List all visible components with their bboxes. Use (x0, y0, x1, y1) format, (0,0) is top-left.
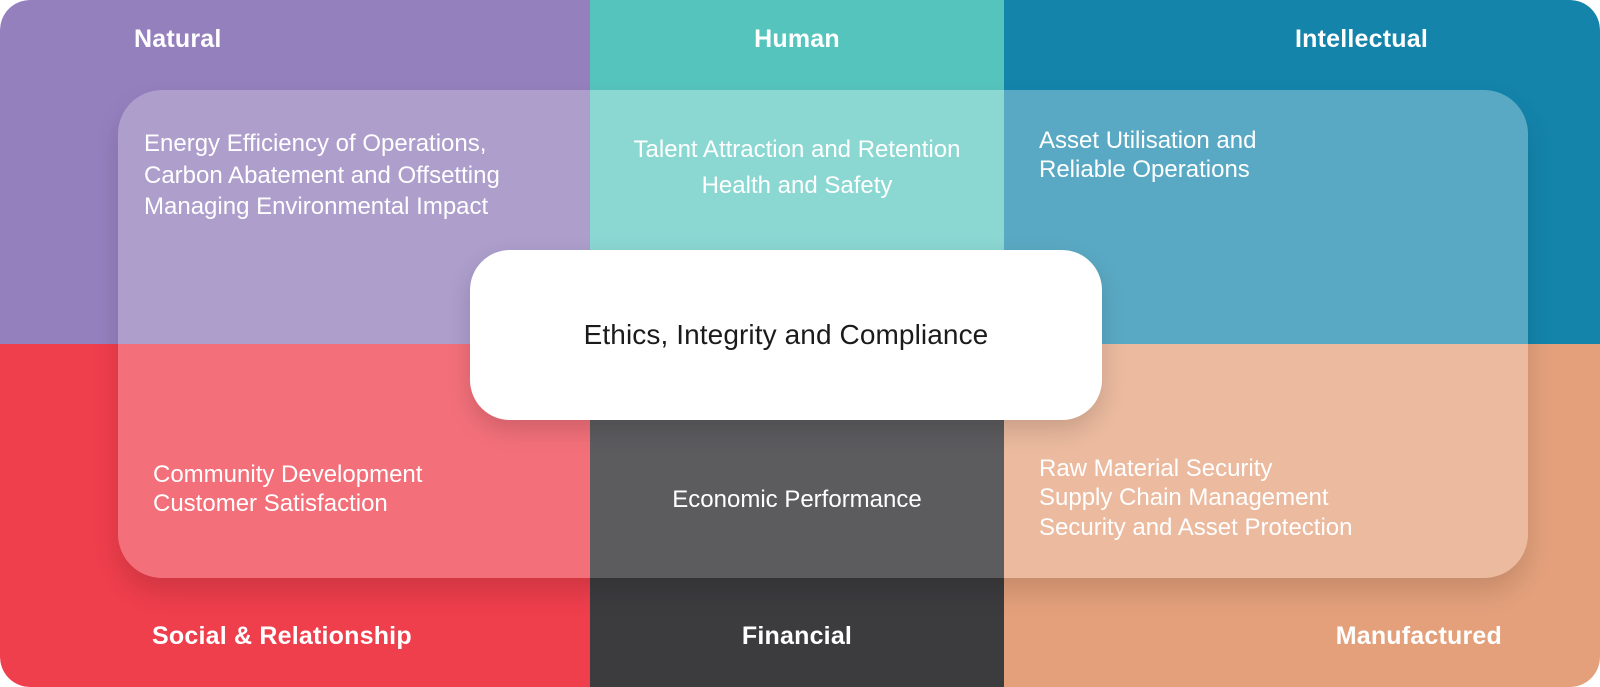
center-pill-label: Ethics, Integrity and Compliance (584, 319, 989, 351)
quadrant-label-natural: Natural (134, 25, 222, 54)
quadrant-label-intellectual: Intellectual (1295, 25, 1428, 54)
center-pill-ethics[interactable]: Ethics, Integrity and Compliance (470, 250, 1102, 420)
quadrant-label-human: Human (590, 25, 1004, 54)
quadrant-label-manufactured: Manufactured (1336, 622, 1502, 651)
six-capitals-diagram: Natural Human Intellectual Social & Rela… (0, 0, 1600, 687)
quadrant-label-social-relationship: Social & Relationship (152, 622, 412, 651)
quadrant-label-financial: Financial (590, 622, 1004, 651)
